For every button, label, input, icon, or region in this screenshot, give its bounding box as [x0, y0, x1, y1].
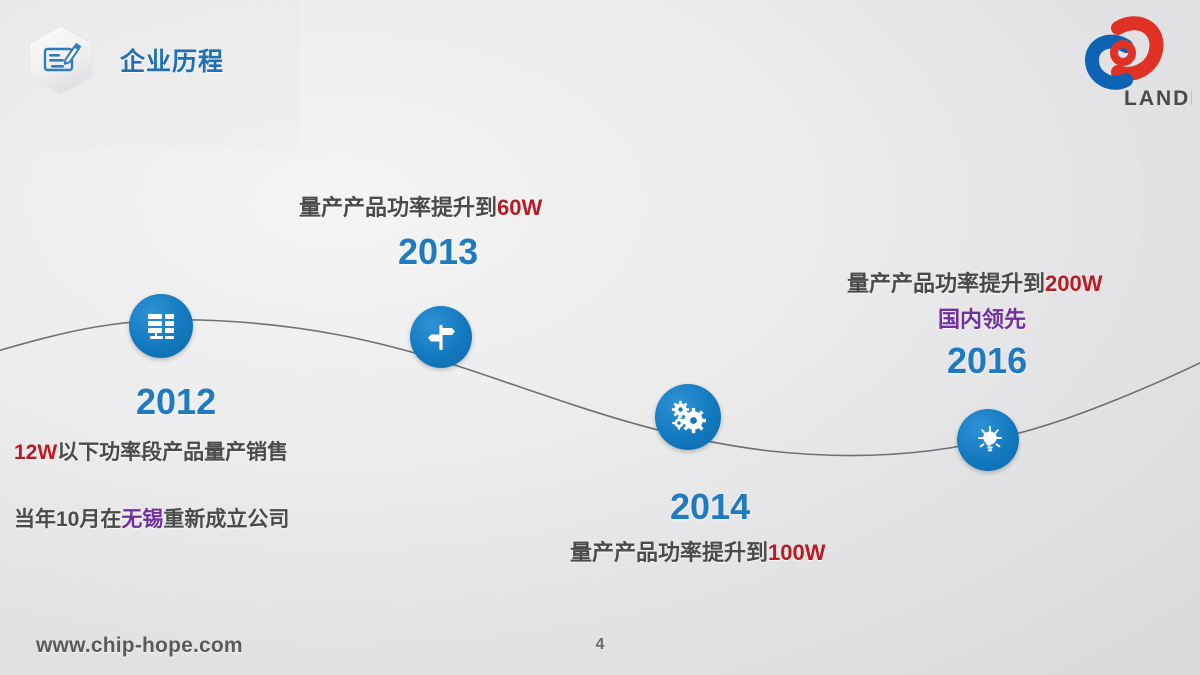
server-rack-icon	[144, 309, 178, 343]
milestone-2013-line-1: 量产产品功率提升到60W	[299, 190, 542, 222]
milestone-2013-l1-s0: 量产产品功率提升到	[299, 195, 497, 220]
signpost-icon	[425, 321, 457, 353]
milestone-2012-year: 2012	[136, 381, 216, 423]
page-title: 企业历程	[120, 42, 224, 78]
node-2014[interactable]	[655, 384, 721, 450]
milestone-2012-l1-s1: 以下功率段产品量产销售	[57, 441, 288, 464]
milestone-2012-l2-s2: 重新成立公司	[163, 508, 289, 531]
milestone-2014-l1-s0: 量产产品功率提升到	[570, 540, 768, 565]
milestone-2012-l2-s1: 无锡	[121, 508, 163, 531]
slide-canvas: 企业历程 LANDP	[0, 0, 1200, 675]
milestone-2016-line-1: 量产产品功率提升到200W	[847, 266, 1103, 298]
company-logo: LANDP	[1052, 6, 1192, 110]
page-number: 4	[0, 636, 1200, 654]
node-2016[interactable]	[957, 409, 1019, 471]
milestone-2012-l2-s0: 当年10月在	[14, 508, 121, 531]
milestone-2016-year: 2016	[947, 340, 1027, 382]
gears-icon	[670, 399, 706, 435]
node-2012[interactable]	[129, 294, 193, 358]
milestone-2013-l1-s1: 60W	[497, 195, 542, 220]
logo-text: LANDP	[1124, 87, 1192, 110]
milestone-2016-l1-s1: 200W	[1045, 271, 1102, 296]
milestone-2012-line-1: 12W以下功率段产品量产销售	[14, 436, 288, 466]
milestone-2014-year: 2014	[670, 486, 750, 528]
slide-header: 企业历程 LANDP	[0, 0, 1200, 112]
milestone-2012-line-2: 当年10月在无锡重新成立公司	[14, 503, 289, 533]
milestone-2013-year: 2013	[398, 231, 478, 273]
milestone-2016-l1-s0: 量产产品功率提升到	[847, 271, 1045, 296]
milestone-2012-l1-s0: 12W	[14, 441, 57, 464]
milestone-2014-line-1: 量产产品功率提升到100W	[570, 535, 826, 567]
milestone-2014-l1-s1: 100W	[768, 540, 825, 565]
lightbulb-icon	[971, 423, 1005, 457]
document-pen-icon	[27, 25, 95, 95]
milestone-2016-line-2: 国内领先	[938, 302, 1026, 334]
node-2013[interactable]	[410, 306, 472, 368]
